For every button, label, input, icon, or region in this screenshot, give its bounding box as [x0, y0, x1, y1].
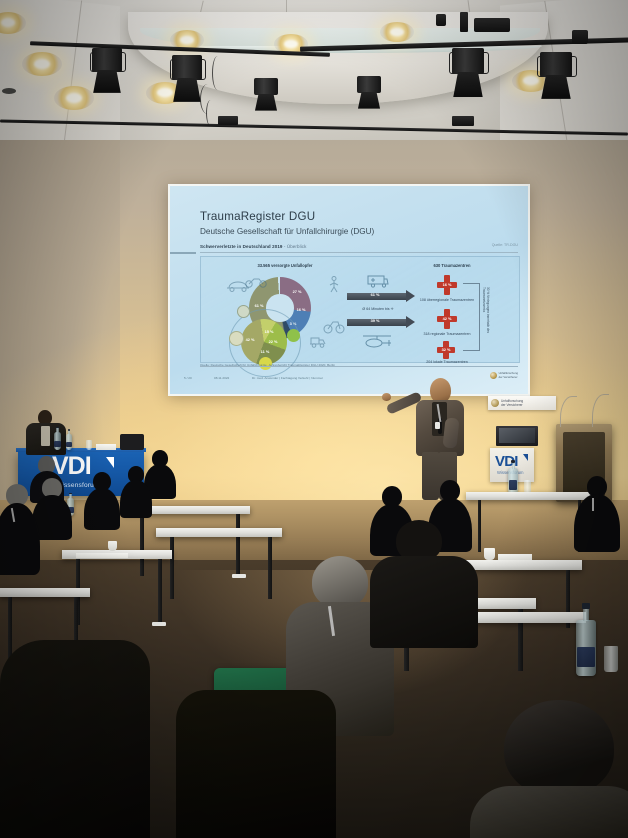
arrow-label-61: 61 %: [363, 292, 387, 297]
ambulance-icon: [367, 273, 389, 289]
projection-screen: TraumaRegister DGU Deutsche Gesellschaft…: [168, 184, 530, 396]
stage-spotlight: [540, 52, 572, 98]
attendee-body: [574, 494, 620, 552]
donut-label-27: 27 %: [289, 289, 305, 294]
audience-desk: [0, 588, 90, 597]
donut-label-16: 16 %: [293, 307, 309, 312]
slide-right-caption: 630 Traumazentren: [409, 263, 495, 268]
table-leg: [140, 514, 144, 576]
cross-label-42: 42 %: [439, 316, 455, 321]
foreground-attendee-left: [0, 640, 150, 838]
slide-source-note: Quelle: TR-DGU: [492, 243, 518, 247]
attendee-body: [120, 480, 152, 518]
hanging-cable: [200, 84, 215, 114]
cross-label-32: 32 %: [438, 347, 454, 352]
helicopter-icon: [361, 333, 393, 351]
vdi-sign-flag-icon: [523, 454, 528, 461]
truck-icon: [309, 333, 327, 349]
ceiling-vent: [2, 88, 16, 94]
foreground-attendee-center: [176, 690, 336, 838]
attendee-figure: [0, 484, 40, 574]
speaker-badge: [435, 422, 440, 429]
table-glass: [86, 440, 92, 450]
wall-logo-emblem-icon: [491, 399, 499, 407]
wall-logo-sign: Unfallforschung der Versicherer: [488, 396, 556, 410]
table-bottle: [54, 432, 61, 450]
table-papers: [96, 444, 116, 450]
projected-slide: TraumaRegister DGU Deutsche Gesellschaft…: [170, 186, 528, 394]
attendee-figure: [574, 476, 620, 552]
transfer-bracket: [463, 283, 480, 351]
attendee-body: [370, 556, 478, 648]
ceiling: [0, 0, 628, 150]
foreground-bottle: [576, 620, 596, 676]
stage-spotlight: [452, 48, 484, 96]
wall-logo-text: Unfallforschung der Versicherer: [501, 399, 523, 407]
slide-section-header: Schwerverletzte in Deutschland 2019 - Üb…: [200, 244, 307, 249]
panelist-figure: [24, 410, 68, 452]
transport-time-note: Ø 64 Minuten bis ✛: [345, 307, 411, 311]
table-foot: [152, 622, 166, 626]
hanging-cable: [212, 56, 223, 90]
stage-spotlight: [254, 78, 278, 110]
slide-logo: Unfallforschung der Versicherer: [490, 372, 518, 379]
table-leg: [236, 514, 240, 576]
attendee-head-grey-hair: [312, 556, 368, 608]
foreground-attendee-dark: [370, 520, 478, 640]
desk-papers: [76, 553, 128, 558]
laptop-screen: [499, 428, 535, 443]
transfer-note: 30 % Verlegungen innerhalb des Traumanet…: [482, 287, 490, 349]
speaker-hand: [382, 393, 391, 401]
rigging-clamp: [436, 14, 446, 26]
rigging-bracket: [460, 12, 468, 32]
arrow-label-39: 39 %: [363, 318, 387, 323]
attendee-body: [0, 503, 40, 575]
slide-subtitle: Deutsche Gesellschaft für Unfallchirurgi…: [200, 227, 374, 236]
bicycle-icon: [323, 315, 345, 335]
attendee-shoulders: [470, 786, 628, 838]
panel-monitor: [120, 434, 144, 450]
slide-logo-emblem-icon: [490, 372, 497, 379]
attendee-head-dark-hair: [504, 700, 614, 796]
table-bottle: [66, 434, 72, 450]
pedestrian-icon: [325, 275, 343, 293]
slide-content-panel: 33.565 versorgte Unfallopfer 27 % 16 % 3…: [200, 256, 520, 363]
attendee-lanyard: [592, 498, 594, 511]
slide-header-rule: [200, 252, 518, 253]
stage-spotlight: [92, 48, 122, 92]
attendee-body: [84, 488, 120, 530]
table-leg: [170, 537, 174, 599]
ceiling-downlight: [380, 22, 414, 42]
attendee-figure: [120, 466, 152, 518]
donut-label-61: 61 %: [249, 303, 269, 308]
desk-papers: [498, 554, 532, 560]
table-foot: [232, 574, 246, 578]
rigging-dimmer-pack: [474, 18, 510, 32]
conference-photo-scene: TraumaRegister DGU Deutsche Gesellschaft…: [0, 0, 628, 838]
slide-page-number: 5 / 20: [184, 376, 192, 380]
attendee-figure: [84, 472, 120, 530]
stage-spotlight: [172, 55, 202, 101]
ring-node-icon: [229, 331, 244, 346]
foreground-attendee-front: [470, 700, 628, 838]
cable-connector-block: [218, 116, 238, 125]
table-leg: [268, 537, 272, 599]
audience-desk: [156, 528, 282, 537]
ceiling-downlight: [22, 52, 62, 76]
foreground-glass: [604, 646, 618, 672]
table-leg: [158, 559, 162, 625]
table-leg: [478, 500, 481, 552]
cable-connector-block: [452, 116, 474, 126]
ring-node-icon: [237, 305, 250, 318]
vdi-table-logo-flag-icon: [106, 457, 114, 468]
slide-accent-rule: [170, 252, 196, 254]
coffee-cup: [484, 548, 495, 560]
ring-node-icon: [287, 329, 300, 342]
coffee-cup: [108, 541, 117, 551]
slide-footer-rule: [200, 366, 518, 367]
motorcycle-icon: [245, 273, 267, 289]
slide-footer-date: 08.11.2022: [214, 376, 229, 380]
panelist-shirt: [41, 426, 50, 446]
lectern-bottle: [508, 468, 518, 494]
rigging-box: [572, 30, 588, 44]
stage-spotlight: [357, 76, 381, 108]
slide-logo-text: Unfallforschung der Versicherer: [499, 372, 518, 379]
ceiling-downlight: [54, 86, 94, 110]
slide-title: TraumaRegister DGU: [200, 210, 315, 223]
cross-label-16: 16 %: [439, 282, 455, 287]
slide-left-caption: 33.565 versorgte Unfallopfer: [225, 263, 345, 268]
audience-desk: [466, 612, 586, 623]
